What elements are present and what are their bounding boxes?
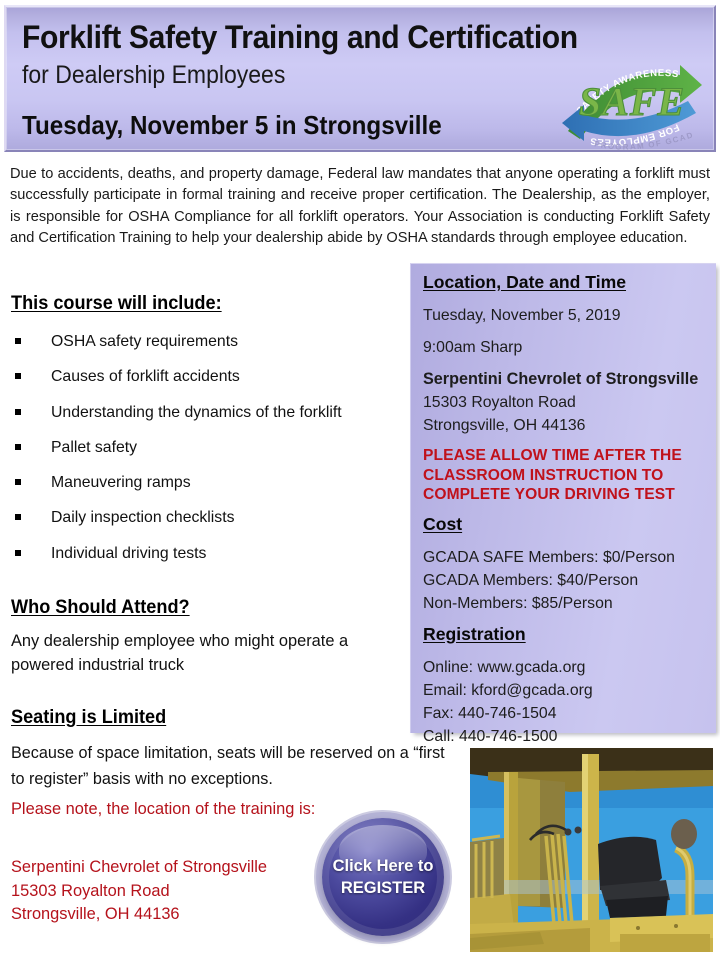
list-item: Causes of forklift accidents: [11, 365, 411, 400]
cost-line: GCADA Members: $40/Person: [423, 569, 706, 592]
spacer: [423, 647, 706, 656]
venue-city-state-zip: Strongsville, OH 44136: [11, 903, 341, 927]
venue-street: 15303 Royalton Road: [11, 880, 341, 904]
event-date-headline: Tuesday, November 5 in Strongsville: [22, 110, 442, 141]
location-note-lead: Please note, the location of the trainin…: [11, 798, 331, 822]
who-should-attend-heading: Who Should Attend?: [11, 596, 190, 619]
sidebar-street: 15303 Royalton Road: [423, 391, 706, 414]
bullet-icon: [15, 514, 21, 520]
list-item: Pallet safety: [11, 436, 411, 471]
list-item-label: Daily inspection checklists: [51, 509, 235, 526]
cost-line: GCADA SAFE Members: $0/Person: [423, 546, 706, 569]
bullet-icon: [15, 373, 21, 379]
course-includes-heading: This course will include:: [11, 292, 222, 315]
list-item-label: OSHA safety requirements: [51, 333, 238, 350]
list-item: OSHA safety requirements: [11, 330, 411, 365]
forklift-photo: [470, 748, 713, 952]
location-note-address: Serpentini Chevrolet of Strongsville 153…: [11, 856, 341, 927]
warning-line-1: PLEASE ALLOW TIME AFTER THE: [423, 446, 706, 466]
sidebar-venue: Serpentini Chevrolet of Strongsville: [423, 368, 706, 391]
list-item-label: Understanding the dynamics of the forkli…: [51, 404, 342, 421]
header-banner: Forklift Safety Training and Certificati…: [4, 5, 716, 152]
safe-program-logo: SAFETY AWARENESS FOR EMPLOYEES SAFE PROG…: [560, 53, 706, 153]
list-item: Individual driving tests: [11, 542, 411, 577]
bullet-icon: [15, 338, 21, 344]
course-includes-list: OSHA safety requirements Causes of forkl…: [11, 330, 411, 577]
registration-online[interactable]: Online: www.gcada.org: [423, 656, 706, 679]
register-button-line2: REGISTER: [341, 877, 425, 899]
sidebar-time: 9:00am Sharp: [423, 336, 706, 359]
registration-fax: Fax: 440-746-1504: [423, 702, 706, 725]
safe-wordmark: SAFE: [579, 79, 685, 124]
driving-test-warning: PLEASE ALLOW TIME AFTER THE CLASSROOM IN…: [423, 446, 706, 505]
spacer: [423, 437, 706, 446]
details-sidebar: Location, Date and Time Tuesday, Novembe…: [410, 263, 716, 733]
spacer: [423, 295, 706, 304]
list-item: Maneuvering ramps: [11, 471, 411, 506]
list-item-label: Individual driving tests: [51, 545, 206, 562]
cost-heading: Cost: [423, 514, 462, 535]
list-item-label: Pallet safety: [51, 439, 137, 456]
spacer: [423, 505, 706, 514]
spacer: [423, 537, 706, 546]
bullet-icon: [15, 479, 21, 485]
list-item-label: Maneuvering ramps: [51, 474, 191, 491]
seating-limited-body: Because of space limitation, seats will …: [11, 740, 451, 792]
location-date-time-heading: Location, Date and Time: [423, 272, 626, 293]
bullet-icon: [15, 444, 21, 450]
sidebar-date: Tuesday, November 5, 2019: [423, 304, 706, 327]
cost-line: Non-Members: $85/Person: [423, 592, 706, 615]
sidebar-city-state-zip: Strongsville, OH 44136: [423, 414, 706, 437]
bullet-icon: [15, 409, 21, 415]
spacer: [423, 359, 706, 368]
page-subtitle: for Dealership Employees: [22, 61, 285, 90]
registration-phone: Call: 440-746-1500: [423, 725, 706, 748]
warning-line-3: COMPLETE YOUR DRIVING TEST: [423, 485, 706, 505]
intro-paragraph: Due to accidents, deaths, and property d…: [10, 164, 710, 250]
list-item: Daily inspection checklists: [11, 506, 411, 541]
list-item-label: Causes of forklift accidents: [51, 368, 240, 385]
svg-text:SAFE: SAFE: [579, 79, 685, 124]
warning-line-2: CLASSROOM INSTRUCTION TO: [423, 466, 706, 486]
register-button[interactable]: Click Here to REGISTER: [322, 818, 444, 936]
register-button-line1: Click Here to: [333, 855, 434, 877]
registration-heading: Registration: [423, 624, 526, 645]
spacer: [423, 327, 706, 336]
seating-limited-heading: Seating is Limited: [11, 706, 166, 729]
bullet-icon: [15, 550, 21, 556]
spacer: [423, 615, 706, 624]
list-item: Understanding the dynamics of the forkli…: [11, 401, 411, 436]
page-title: Forklift Safety Training and Certificati…: [22, 19, 578, 56]
registration-email[interactable]: Email: kford@gcada.org: [423, 679, 706, 702]
venue-name: Serpentini Chevrolet of Strongsville: [11, 856, 341, 880]
who-should-attend-body: Any dealership employee who might operat…: [11, 629, 391, 677]
